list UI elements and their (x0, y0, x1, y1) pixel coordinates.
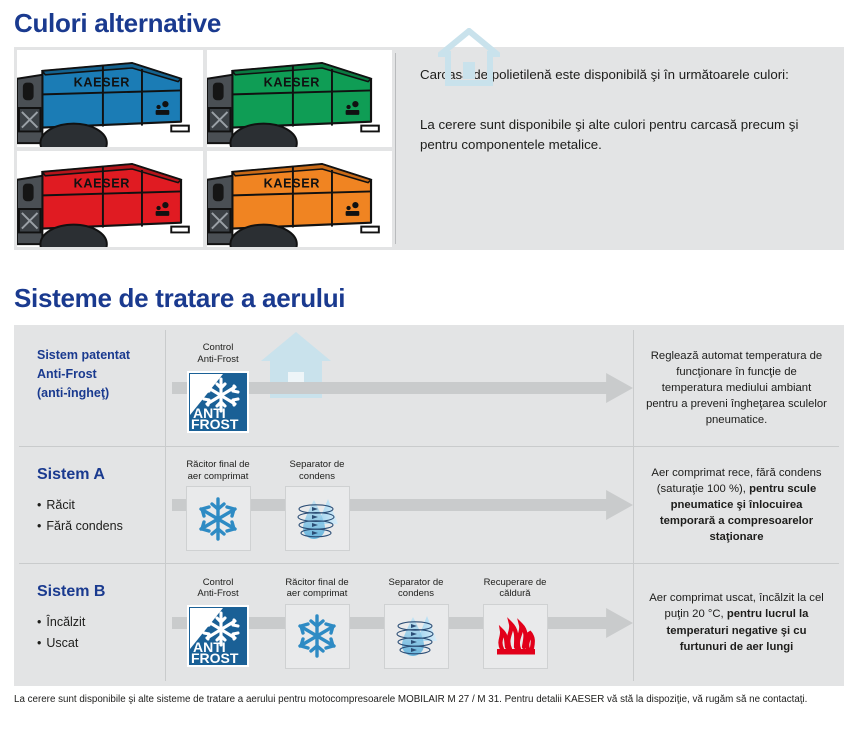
system-flow-cell: Control Anti-Frost ANTI FROST (166, 330, 634, 446)
system-name-line: Sistem B (37, 580, 165, 604)
system-description-text: Aer comprimat rece, fără condens (satura… (646, 465, 827, 545)
flow-step: Separator de condens (374, 577, 458, 669)
flow-step: Separator de condens (275, 459, 359, 551)
alternative-colors-panel: KAESER KAESER (14, 47, 844, 250)
condensate-separator-icon (285, 486, 350, 551)
anti-frost-logo-icon: ANTI FROST (186, 369, 251, 434)
flow-step-caption: Separator de condens (275, 459, 359, 483)
system-feature-list: ÎncălzitUscat (37, 612, 165, 653)
system-flow-cell: Răcitor final de aer comprimat Separator… (166, 447, 634, 563)
system-name-line: Anti-Frost (37, 365, 165, 384)
flow-step: Recuperare de căldură (473, 577, 557, 669)
svg-text:FROST: FROST (191, 650, 239, 666)
machine-green: KAESER (207, 50, 393, 147)
list-item: Răcit (37, 495, 165, 516)
row-sistem-b: Sistem BÎncălzitUscat Control Anti-Frost… (19, 564, 839, 681)
colors-description: Carcasa de polietilenă este disponibilă … (396, 47, 844, 250)
page-title-alternative-colors: Culori alternative (14, 8, 221, 39)
system-name-line: Sistem A (37, 463, 165, 487)
list-item: Încălzit (37, 612, 165, 633)
ral-color-table (420, 97, 492, 101)
description-plain: Reglează automat temperatura de funcţion… (646, 350, 827, 426)
page-title-air-treatment-systems: Sisteme de tratare a aerului (14, 283, 345, 314)
row-anti-frost: Sistem patentatAnti-Frost(anti-îngheţ) C… (19, 330, 839, 447)
machine-red: KAESER (17, 151, 203, 248)
system-name: Sistem B (37, 580, 165, 604)
air-treatment-systems-panel: Sistem patentatAnti-Frost(anti-îngheţ) C… (14, 325, 844, 686)
footer-note: La cerere sunt disponibile şi alte siste… (14, 692, 844, 707)
flow-step-caption: Control Anti-Frost (176, 342, 260, 366)
system-description-text: Aer comprimat uscat, încălzit la cel puţ… (646, 590, 827, 654)
machine-orange: KAESER (207, 151, 393, 248)
condensate-separator-graphic (290, 492, 344, 546)
system-description-cell: Aer comprimat uscat, încălzit la cel puţ… (634, 564, 839, 681)
list-item: Uscat (37, 633, 165, 654)
condensate-separator-graphic (389, 609, 443, 663)
flow-step: Răcitor final de aer comprimat (176, 459, 260, 551)
list-item: Fără condens (37, 516, 165, 537)
aftercooler-snowflake-icon (285, 604, 350, 669)
system-description-cell: Reglează automat temperatura de funcţion… (634, 330, 839, 446)
svg-text:KAESER: KAESER (263, 176, 319, 190)
system-description-text: Reglează automat temperatura de funcţion… (646, 348, 827, 428)
anti-frost-logo-icon: ANTI FROST (186, 604, 251, 669)
row-sistem-a: Sistem ARăcitFără condens Răcitor final … (19, 447, 839, 564)
system-feature-list: RăcitFără condens (37, 495, 165, 536)
flow-step-caption: Separator de condens (374, 577, 458, 601)
heat-recovery-flame-icon (483, 604, 548, 669)
flow-step: Control Anti-Frost ANTI FROST (176, 342, 260, 434)
ral-row (420, 100, 492, 101)
system-name: Sistem patentatAnti-Frost(anti-îngheţ) (37, 346, 165, 402)
system-label-cell: Sistem patentatAnti-Frost(anti-îngheţ) (19, 330, 166, 446)
system-name-line: (anti-îngheţ) (37, 384, 165, 403)
svg-text:KAESER: KAESER (74, 176, 130, 190)
flow-step: Control Anti-Frost ANTI FROST (176, 577, 260, 669)
heat-recovery-flame-graphic (490, 613, 540, 659)
colors-outro-text: La cerere sunt disponibile şi alte culor… (420, 115, 824, 154)
system-label-cell: Sistem BÎncălzitUscat (19, 564, 166, 681)
svg-text:KAESER: KAESER (263, 76, 319, 90)
flow-step: Răcitor final de aer comprimat (275, 577, 359, 669)
svg-text:FROST: FROST (191, 416, 239, 432)
system-label-cell: Sistem ARăcitFără condens (19, 447, 166, 563)
flow-step-caption: Răcitor final de aer comprimat (275, 577, 359, 601)
flow-step-caption: Răcitor final de aer comprimat (176, 459, 260, 483)
system-name: Sistem A (37, 463, 165, 487)
condensate-separator-icon (384, 604, 449, 669)
machine-blue: KAESER (17, 50, 203, 147)
svg-text:KAESER: KAESER (74, 76, 130, 90)
system-description-cell: Aer comprimat rece, fără condens (satura… (634, 447, 839, 563)
page-root: Culori alternative KAESER (0, 0, 858, 729)
aftercooler-snowflake-icon (186, 486, 251, 551)
machine-image-grid: KAESER KAESER (14, 47, 395, 250)
system-flow-cell: Control Anti-Frost ANTI FROST Răcitor fi… (166, 564, 634, 681)
snowflake-graphic (194, 495, 242, 543)
snowflake-graphic (293, 612, 341, 660)
anti-frost-logo-graphic: ANTI FROST (187, 371, 249, 433)
anti-frost-logo-graphic: ANTI FROST (187, 605, 249, 667)
flow-step-caption: Recuperare de căldură (473, 577, 557, 601)
system-name-line: Sistem patentat (37, 346, 165, 365)
ral-color-name (420, 100, 492, 101)
colors-intro-text: Carcasa de polietilenă este disponibilă … (420, 65, 824, 84)
flow-step-caption: Control Anti-Frost (176, 577, 260, 601)
